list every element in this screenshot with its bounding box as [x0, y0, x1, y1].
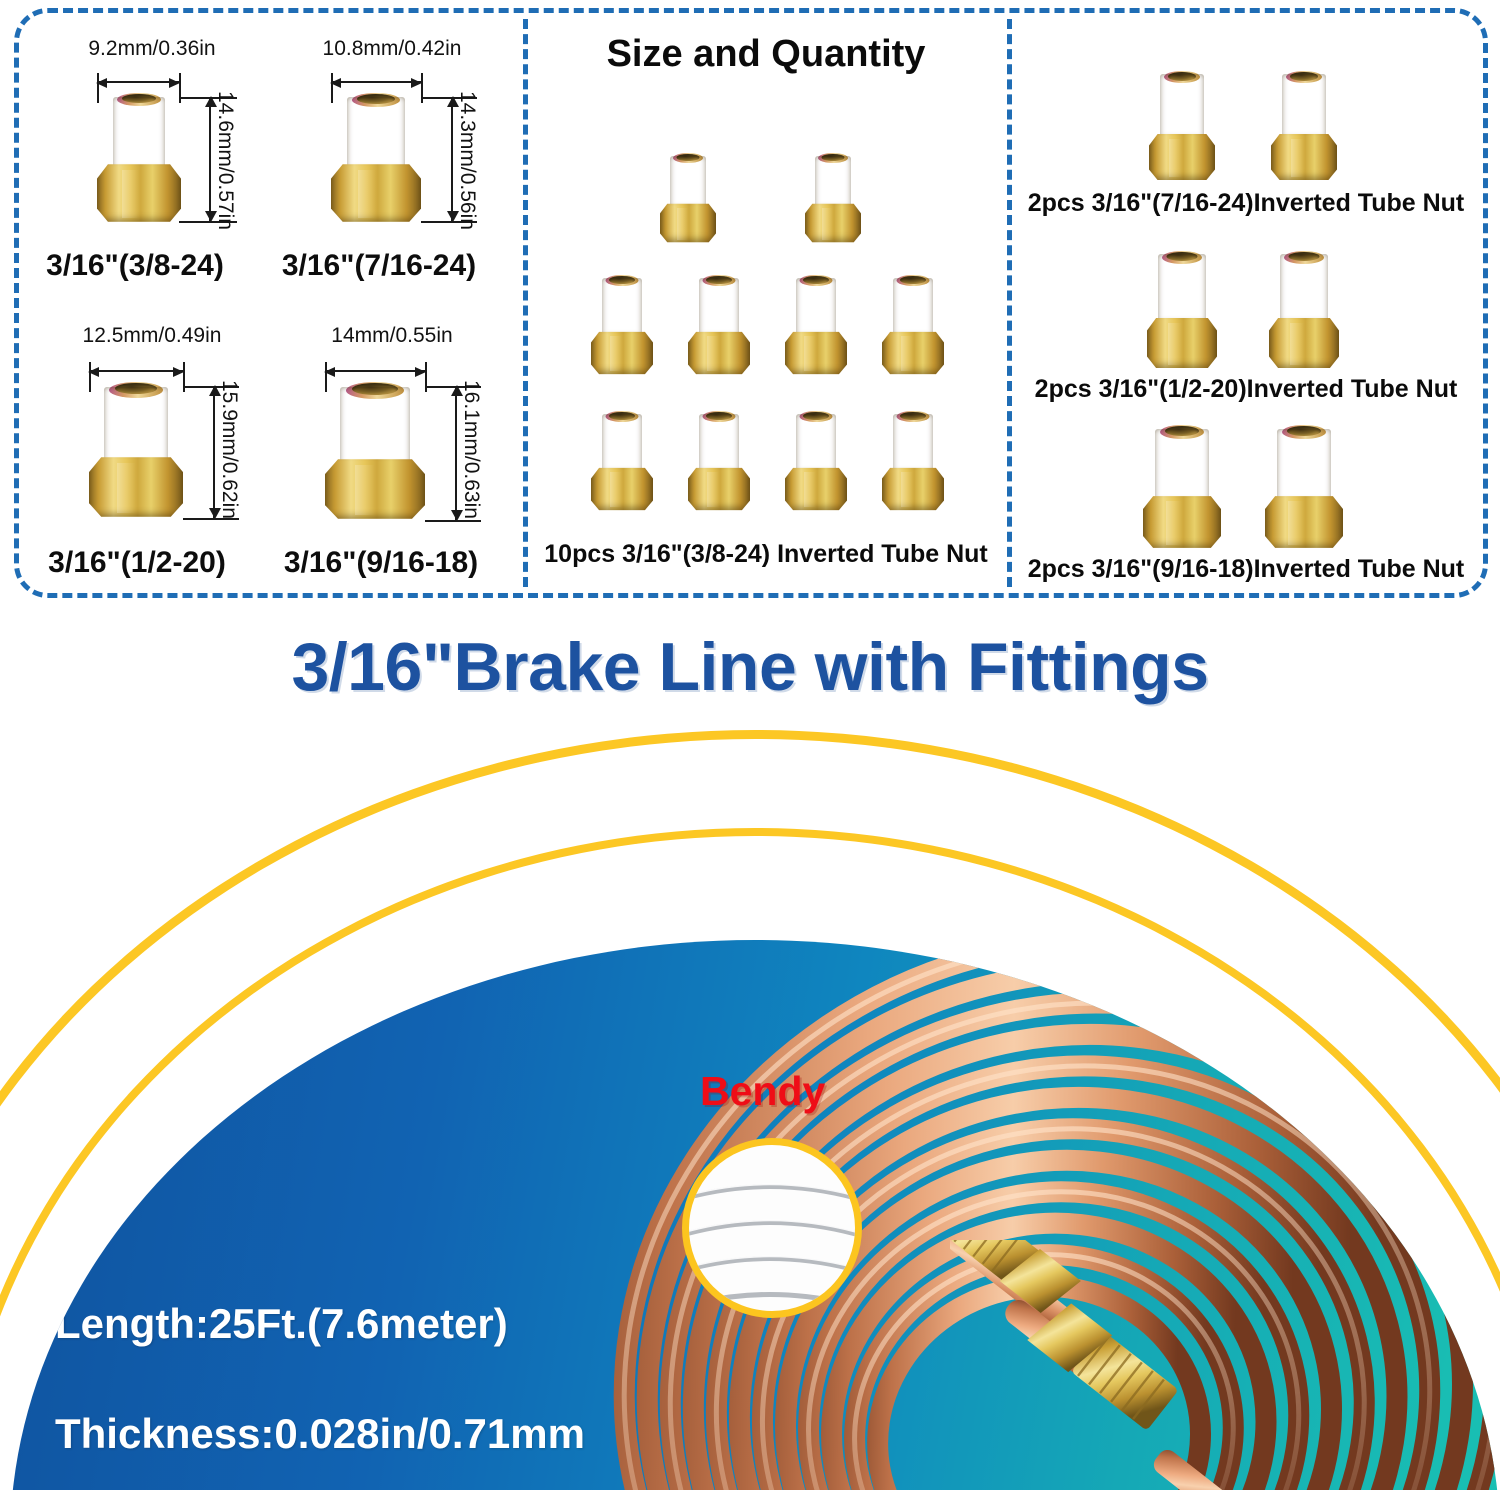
hero-section: Bendy Leng: [0, 718, 1500, 1490]
nut-group-1: 2pcs 3/16"(1/2-20)Inverted Tube Nut: [1009, 251, 1483, 381]
group-caption: 2pcs 3/16"(1/2-20)Inverted Tube Nut: [1035, 375, 1458, 404]
tube-nut-icon: [591, 411, 653, 511]
tube-end-svg: [950, 1240, 1370, 1490]
dimension-width-label: 10.8mm/0.42in: [323, 37, 462, 61]
spec-line-thickness: Thickness:0.028in/0.71mm: [55, 1410, 755, 1458]
tube-nut-icon: [331, 93, 421, 221]
dimension-height-arrow: [451, 97, 453, 221]
bendy-magnifier-circle: [682, 1138, 862, 1318]
dimension-height-label: 14.6mm/0.57in: [213, 91, 237, 230]
spec-line-length: Length:25Ft.(7.6meter): [55, 1300, 755, 1348]
dimension-name: 3/16"(1/2-20): [48, 546, 226, 580]
tube-nut-icon: [785, 275, 847, 375]
dimension-width-label: 9.2mm/0.36in: [88, 37, 215, 61]
tube-nut-icon: [1269, 251, 1339, 369]
dimension-width-label: 14mm/0.55in: [331, 324, 452, 348]
dimension-height-label: 16.1mm/0.63in: [459, 380, 483, 519]
spec-list: Length:25Ft.(7.6meter) Thickness:0.028in…: [55, 1300, 755, 1490]
group-caption: 10pcs 3/16"(3/8-24) Inverted Tube Nut: [544, 540, 987, 569]
page-title: 3/16"Brake Line with Fittings: [0, 628, 1500, 706]
tube-nut-icon: [660, 153, 716, 243]
product-infographic: 9.2mm/0.36in 14.6mm/0.57in 3/16"(3/8-24)…: [0, 0, 1500, 1490]
tube-nut-icon: [97, 93, 181, 221]
dimension-width-arrow: [325, 370, 425, 372]
dimension-height-arrow: [209, 97, 211, 221]
tube-nut-icon: [1265, 425, 1343, 549]
tube-nut-icon: [89, 382, 183, 518]
dimension-name: 3/16"(3/8-24): [46, 249, 224, 283]
tube-nut-icon: [591, 275, 653, 375]
dimension-height-arrow: [213, 386, 215, 518]
size-and-quantity-section: Size and Quantity: [525, 13, 1007, 593]
dimension-width-arrow: [331, 81, 421, 83]
bendy-label: Bendy: [700, 1068, 825, 1115]
dimension-height-label: 14.3mm/0.56in: [455, 91, 479, 230]
tube-nut-icon: [1143, 425, 1221, 549]
dimension-figure-0: 9.2mm/0.36in 14.6mm/0.57in 3/16"(3/8-24): [41, 31, 263, 296]
spec-panel: 9.2mm/0.36in 14.6mm/0.57in 3/16"(3/8-24)…: [14, 8, 1488, 598]
tube-nut-icon: [688, 411, 750, 511]
dimension-figure-1: 10.8mm/0.42in 14.3mm/0.56in 3/16"(7/16-2…: [281, 31, 503, 296]
dimension-name: 3/16"(9/16-18): [284, 546, 478, 580]
bendy-wires-icon: [689, 1145, 855, 1311]
tube-nut-icon: [882, 411, 944, 511]
tube-end-with-fittings: [950, 1240, 1370, 1490]
tube-nut-icon: [805, 153, 861, 243]
nut-group-0: 2pcs 3/16"(7/16-24)Inverted Tube Nut: [1009, 71, 1483, 201]
group-caption: 2pcs 3/16"(7/16-24)Inverted Tube Nut: [1028, 189, 1465, 218]
tube-nut-icon: [688, 275, 750, 375]
section-title: Size and Quantity: [607, 33, 926, 76]
tube-nut-icon: [1271, 71, 1337, 181]
tube-nut-icon: [882, 275, 944, 375]
dimension-figure-3: 14mm/0.55in 16.1mm/0.63in 3/16"(9/16-18): [281, 318, 503, 586]
dimension-figure-2: 12.5mm/0.49in 15.9mm/0.62in 3/16"(1/2-20…: [41, 318, 263, 586]
nut-group-2: 2pcs 3/16"(9/16-18)Inverted Tube Nut: [1009, 425, 1483, 555]
dimension-width-label: 12.5mm/0.49in: [83, 324, 222, 348]
dimension-width-arrow: [97, 81, 179, 83]
tube-nut-icon: [1147, 251, 1217, 369]
tube-nut-icon: [785, 411, 847, 511]
tube-nut-icon: [325, 382, 425, 520]
dimension-height-label: 15.9mm/0.62in: [217, 380, 241, 519]
tube-nut-icon: [1149, 71, 1215, 181]
dimension-name: 3/16"(7/16-24): [282, 249, 476, 283]
dimension-width-arrow: [89, 370, 183, 372]
right-groups-section: 2pcs 3/16"(7/16-24)Inverted Tube Nut 2pc…: [1009, 13, 1483, 593]
dimension-height-arrow: [455, 386, 457, 520]
group-caption: 2pcs 3/16"(9/16-18)Inverted Tube Nut: [1028, 555, 1465, 584]
